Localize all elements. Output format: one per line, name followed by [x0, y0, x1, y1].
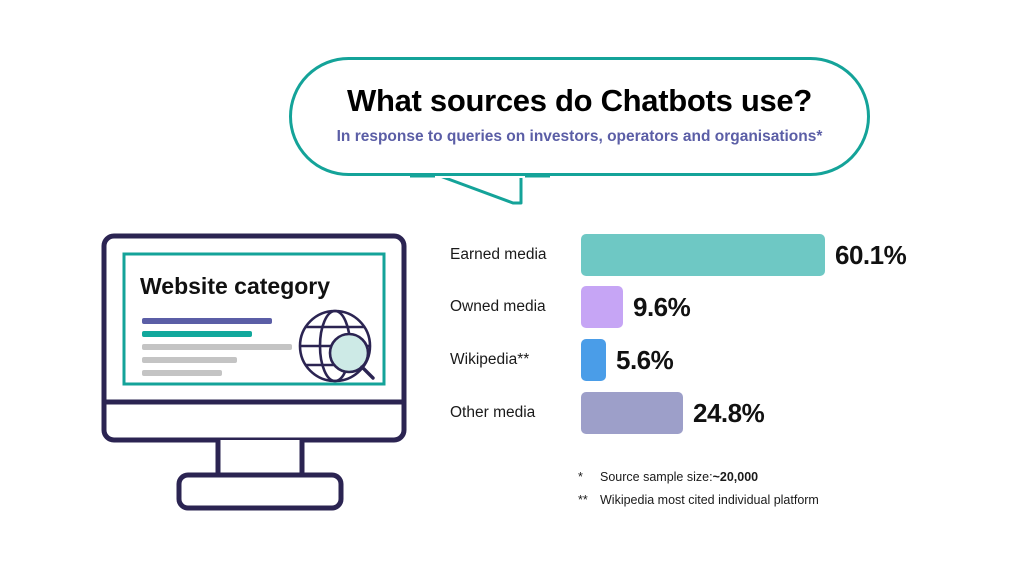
page-subtitle: In response to queries on investors, ope… [292, 128, 867, 146]
bar-row: Wikipedia** 5.6% [450, 339, 970, 381]
footnote-wikipedia: ** Wikipedia most cited individual platf… [578, 493, 978, 507]
bar-value-owned-media: 9.6% [633, 292, 690, 323]
footnote-mark: ** [578, 493, 600, 507]
screen-text-line-2 [142, 331, 252, 337]
bar-row: Owned media 9.6% [450, 286, 970, 328]
footnote-source-sample-size: * Source sample size: ~20,000 [578, 470, 978, 484]
bar-label-owned-media: Owned media [450, 298, 568, 316]
bar-row: Earned media 60.1% [450, 234, 970, 276]
bar-track: 9.6% [581, 286, 690, 328]
bar-track: 60.1% [581, 234, 906, 276]
footnote-text: Wikipedia most cited individual platform [600, 493, 819, 507]
bar-label-other-media: Other media [450, 404, 568, 422]
bar-label-earned-media: Earned media [450, 246, 568, 264]
footnotes: * Source sample size: ~20,000 ** Wikiped… [578, 470, 978, 516]
bar-value-wikipedia: 5.6% [616, 345, 673, 376]
bar-fill-earned-media [581, 234, 825, 276]
footnote-text: Source sample size: [600, 470, 713, 484]
bar-label-wikipedia: Wikipedia** [450, 351, 568, 369]
speech-bubble: What sources do Chatbots use? In respons… [289, 57, 870, 176]
screen-text-line-4 [142, 357, 237, 363]
monitor-base [179, 475, 341, 508]
footnote-mark: * [578, 470, 600, 484]
bar-row: Other media 24.8% [450, 392, 970, 434]
bar-fill-wikipedia [581, 339, 606, 381]
footnote-sample-size-value: ~20,000 [713, 470, 759, 484]
bar-value-earned-media: 60.1% [835, 240, 906, 271]
screen-text-line-1 [142, 318, 272, 324]
bar-fill-other-media [581, 392, 683, 434]
bar-track: 5.6% [581, 339, 673, 381]
monitor-illustration: Website category [100, 232, 420, 512]
page-title: What sources do Chatbots use? [292, 83, 867, 119]
bar-track: 24.8% [581, 392, 764, 434]
screen-text-line-5 [142, 370, 222, 376]
bar-chart: Earned media 60.1% Owned media 9.6% Wiki… [450, 234, 970, 444]
bar-fill-owned-media [581, 286, 623, 328]
monitor-stand-neck [218, 440, 302, 476]
screen-text-line-3 [142, 344, 292, 350]
screen-title: Website category [140, 273, 330, 299]
bar-value-other-media: 24.8% [693, 398, 764, 429]
